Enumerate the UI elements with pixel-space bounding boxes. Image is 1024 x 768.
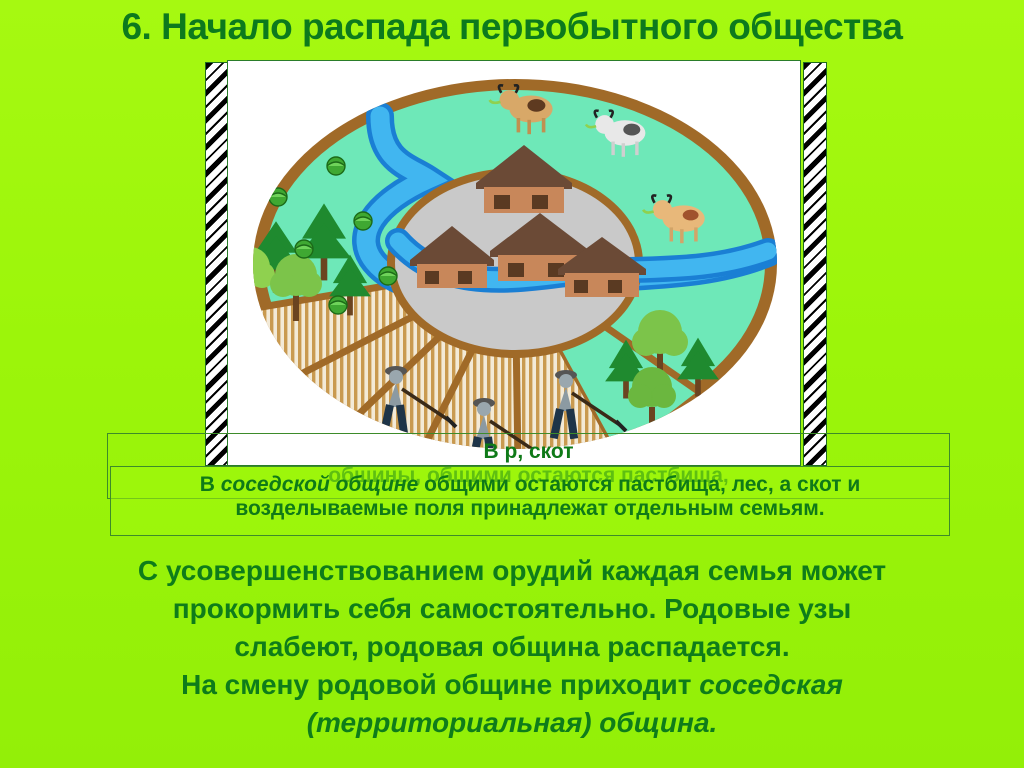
bottom-paragraph-line-5: (территориальная) община. [32, 704, 992, 742]
textbox-sosedskaya-line2: возделываемые поля принадлежат отдельным… [111, 497, 949, 521]
bottom-paragraph: С усовершенствованием орудий каждая семь… [32, 552, 992, 742]
bottom-paragraph-term-sosedskaya: соседская [699, 669, 843, 700]
decorative-border-left-icon [205, 62, 229, 466]
illustration-panel [227, 60, 801, 466]
textbox-sosedskaya-obshchina: В соседской общине общими остаются пастб… [110, 466, 950, 536]
decorative-border-right-icon [803, 62, 827, 466]
bottom-paragraph-line-1: С усовершенствованием орудий каждая семь… [32, 552, 992, 590]
textbox-sosedskaya-line1: В соседской общине общими остаются пастб… [111, 473, 949, 497]
textbox-sosedskaya-term: соседской общине [221, 473, 419, 496]
textbox-rodovaya-line1: В р, скот [108, 440, 949, 464]
textbox-sosedskaya-line1-prefix: В [200, 473, 221, 496]
slide-canvas: 6. Начало распада первобытного общества [0, 0, 1024, 768]
bottom-paragraph-line-3: слабеют, родовая община распадается. [32, 628, 992, 666]
bottom-paragraph-line-4: На смену родовой общине приходит соседск… [32, 666, 992, 704]
village-diagram-image [228, 61, 801, 466]
page-title: 6. Начало распада первобытного общества [0, 6, 1024, 48]
textbox-rodovaya-line1-suffix: , скот [517, 440, 573, 463]
textbox-sosedskaya-line1-suffix: общими остаются пастбища, лес, а скот и [418, 473, 860, 496]
textbox-rodovaya-line1-prefix: В р [484, 440, 518, 463]
bottom-paragraph-line-2: прокормить себя самостоятельно. Родовые … [32, 590, 992, 628]
bottom-paragraph-line-4-prefix: На смену родовой общине приходит [181, 669, 699, 700]
